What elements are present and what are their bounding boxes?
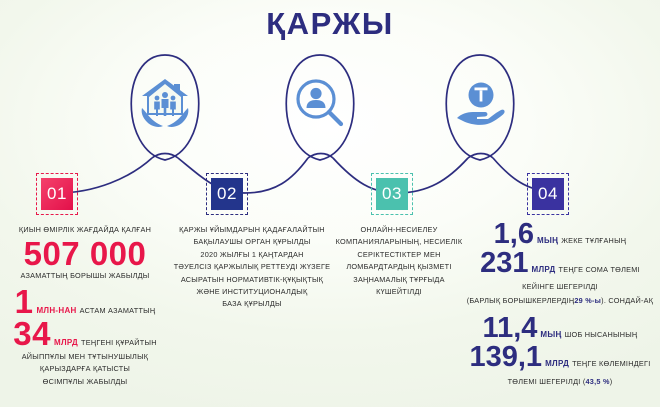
col4-line-4: (БАРЛЫҚ БОРЫШКЕРЛЕРДІҢ29 %-ы). СОНДАЙ-АҚ [462, 295, 658, 307]
col4-line-3: КЕЙІНГЕ ШЕГЕРІЛДІ [462, 281, 658, 293]
col4-tail-1: ЖЕКЕ ТҰЛҒАНЫҢ [561, 236, 626, 245]
column-03: ОНЛАЙН-НЕСИЕЛЕУ КОМПАНИЯЛАРЫНЫҢ, НЕСИЕЛІ… [334, 224, 464, 298]
col4-unit-myn-2: МЫҢ [540, 330, 561, 339]
house-family-in-hands-icon [136, 75, 194, 133]
col4-unit-mlrd-2: МЛРД [545, 359, 569, 368]
col4-unit-myn-1: МЫҢ [537, 236, 558, 245]
col4-stat-1391: 139,1 [469, 343, 542, 371]
col2-line-1: ҚАРЖЫ ҰЙЫМДАРЫН ҚАДАҒАЛАЙТЫН [168, 224, 336, 236]
tenge-coin-in-hand-icon [451, 75, 509, 133]
col1-tail-2: ТЕҢГЕНІ ҚҰРАЙТЫН [81, 338, 157, 347]
marker-01-chip: 01 [41, 178, 73, 210]
marker-02[interactable]: 02 [206, 173, 248, 215]
col1-stat-34: 34 [13, 318, 51, 349]
col1-unit-mln: МЛН-НАН [36, 306, 76, 315]
col4-line-7-bold: 43,5 % [586, 377, 610, 386]
col3-line-2: КОМПАНИЯЛАРЫНЫҢ, НЕСИЕЛІК [334, 236, 464, 248]
col3-line-4: ЛОМБАРДТАРДЫҢ ҚЫЗМЕТІ [334, 261, 464, 273]
col1-stat-1-mln-row: 1 МЛН-НАН АСТАМ АЗАМАТТЫҢ [2, 286, 168, 317]
col1-line-6: АЙЫППҰЛЫ МЕН ТҰТЫНУШЫЛЫҚ [2, 351, 168, 363]
col1-stat-1: 1 [15, 286, 34, 317]
marker-03-chip: 03 [376, 178, 408, 210]
col4-line-4-pre: (БАРЛЫҚ БОРЫШКЕРЛЕРДІҢ [467, 296, 575, 305]
marker-02-chip: 02 [211, 178, 243, 210]
col2-line-2: БАҚЫЛАУШЫ ОРГАН ҚҰРЫЛДЫ [168, 236, 336, 248]
col2-line-3: 2020 ЖЫЛҒЫ 1 ҚАҢТАРДАН [168, 249, 336, 261]
col1-tail-1: АСТАМ АЗАМАТТЫҢ [80, 306, 156, 315]
marker-01[interactable]: 01 [36, 173, 78, 215]
column-02: ҚАРЖЫ ҰЙЫМДАРЫН ҚАДАҒАЛАЙТЫН БАҚЫЛАУШЫ О… [168, 224, 336, 311]
col1-stat-507000: 507 000 [2, 238, 168, 269]
col4-tail-2: ТЕҢГЕ СОМА ТӨЛЕМІ [559, 265, 640, 274]
col4-stat-16: 1,6 [494, 220, 534, 248]
infographic-canvas: ҚАРЖЫ [0, 0, 660, 419]
col4-stat-231-row: 231 МЛРД ТЕҢГЕ СОМА ТӨЛЕМІ [462, 249, 658, 277]
col4-stat-114-row: 11,4 МЫҢ ШОБ НЫСАНЫНЫҢ [462, 314, 658, 342]
person-magnifier-icon [291, 75, 349, 133]
col3-line-1: ОНЛАЙН-НЕСИЕЛЕУ [334, 224, 464, 236]
col1-line-8: ӨСІМПҰЛЫ ЖАБЫЛДЫ [2, 376, 168, 388]
bottom-white-strip [0, 407, 660, 419]
col2-line-6: ЖӘНЕ ИНСТИТУЦИОНАЛДЫҚ [168, 286, 336, 298]
col4-tail-3: ШОБ НЫСАНЫНЫҢ [565, 330, 638, 339]
col2-line-5: АСЫРАТЫН НОРМАТИВТІК-ҚҰҚЫҚТЫҚ [168, 274, 336, 286]
marker-03[interactable]: 03 [371, 173, 413, 215]
marker-01-number: 01 [47, 184, 67, 204]
col4-line-4-post: ). СОНДАЙ-АҚ [601, 296, 653, 305]
marker-03-number: 03 [382, 184, 402, 204]
col1-stat-34-mlrd-row: 34 МЛРД ТЕҢГЕНІ ҚҰРАЙТЫН [2, 318, 168, 349]
column-01: ҚИЫН ӨМІРЛІК ЖАҒДАЙДА ҚАЛҒАН 507 000 АЗА… [2, 224, 168, 388]
col4-line-7-pre: ТӨЛЕМІ ШЕГЕРІЛДІ ( [508, 377, 586, 386]
col4-stat-16-row: 1,6 МЫҢ ЖЕКЕ ТҰЛҒАНЫҢ [462, 220, 658, 248]
column-04: 1,6 МЫҢ ЖЕКЕ ТҰЛҒАНЫҢ 231 МЛРД ТЕҢГЕ СОМ… [462, 220, 658, 388]
col2-line-4: ТӘУЕЛСІЗ ҚАРЖЫЛЫҚ РЕТТЕУДІ ЖҮЗЕГЕ [168, 261, 336, 273]
col4-unit-mlrd-1: МЛРД [532, 265, 556, 274]
col3-line-5: ЗАҢНАМАЛЫҚ ТҰРҒЫДА [334, 274, 464, 286]
marker-04-chip: 04 [532, 178, 564, 210]
col4-stat-231: 231 [480, 249, 528, 277]
col3-line-3: СЕРІКТЕСТІКТЕР МЕН [334, 249, 464, 261]
col3-line-6: КҮШЕЙТІЛДІ [334, 286, 464, 298]
col1-unit-mlrd: МЛРД [54, 338, 78, 347]
marker-04[interactable]: 04 [527, 173, 569, 215]
col4-line-4-bold: 29 %-ы [574, 296, 601, 305]
col2-line-7: БАЗА ҚҰРЫЛДЫ [168, 298, 336, 310]
col4-stat-114: 11,4 [483, 314, 538, 342]
col4-line-7: ТӨЛЕМІ ШЕГЕРІЛДІ (43,5 %) [462, 376, 658, 388]
col4-tail-4: ТЕҢГЕ КӨЛЕМІНДЕГІ [572, 359, 650, 368]
col1-line-3: АЗАМАТТЫҢ БОРЫШЫ ЖАБЫЛДЫ [2, 270, 168, 282]
marker-04-number: 04 [538, 184, 558, 204]
marker-02-number: 02 [217, 184, 237, 204]
col1-line-7: ҚАРЫЗДАРҒА ҚАТЫСТЫ [2, 363, 168, 375]
page-title: ҚАРЖЫ [0, 6, 660, 42]
col4-stat-1391-row: 139,1 МЛРД ТЕҢГЕ КӨЛЕМІНДЕГІ [462, 343, 658, 371]
col4-line-7-post: ) [610, 377, 613, 386]
